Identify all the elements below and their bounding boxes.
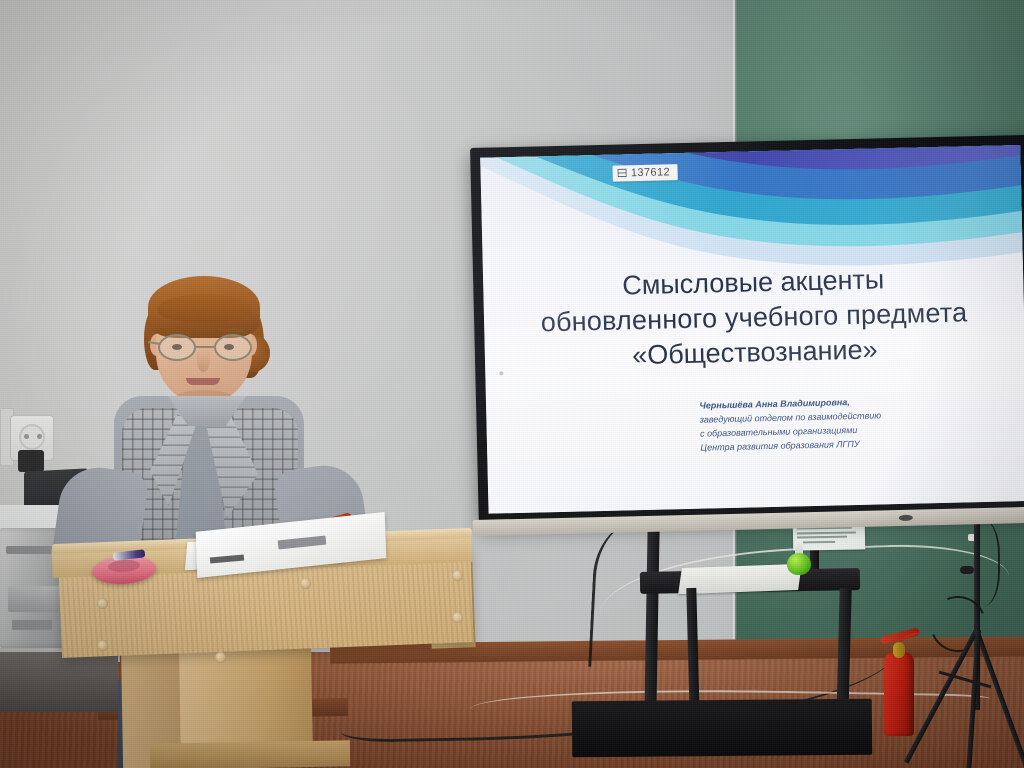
podium-dowel xyxy=(97,640,108,651)
display-screen[interactable]: 137612 Смысловые акценты обновленного уч… xyxy=(480,145,1024,514)
display-stand-base xyxy=(572,699,872,758)
fire-extinguisher xyxy=(884,626,914,736)
podium-dowel xyxy=(452,612,463,623)
hand-sanitizer-bottle xyxy=(787,545,811,575)
podium-dowel xyxy=(452,570,463,581)
glasses-bridge xyxy=(196,346,214,348)
printer-label xyxy=(12,620,52,630)
sanitizer-body xyxy=(787,553,811,575)
left-dark-box xyxy=(0,652,118,712)
glasses-lens-right xyxy=(214,334,252,361)
printer-tray xyxy=(8,586,62,612)
podium-base xyxy=(150,740,350,768)
sign-line xyxy=(797,531,856,534)
screen-dust-speck xyxy=(499,371,503,375)
hair-fringe xyxy=(158,294,252,322)
slide-author-block: Чернышёва Анна Владимировна, заведующий … xyxy=(699,391,1003,455)
sign-line xyxy=(797,536,847,539)
tripod-cable-upper xyxy=(960,520,1000,606)
display-bezel: 137612 Смысловые акценты обновленного уч… xyxy=(470,135,1024,526)
inventory-label: 137612 xyxy=(613,164,678,182)
presentation-slide: 137612 Смысловые акценты обновленного уч… xyxy=(480,145,1024,514)
podium-dowel xyxy=(215,652,226,663)
slide-title: Смысловые акценты обновленного учебного … xyxy=(505,259,1004,376)
wall-display[interactable]: 137612 Смысловые акценты обновленного уч… xyxy=(470,135,1024,526)
podium-dowel xyxy=(97,598,108,609)
inventory-label-text: 137612 xyxy=(631,166,670,179)
socket-pin-left xyxy=(24,434,29,439)
mouth xyxy=(186,378,220,385)
extinguisher-body xyxy=(884,652,914,736)
glasses-lens-left xyxy=(158,334,196,361)
nose xyxy=(197,350,210,372)
inventory-tag-icon xyxy=(618,168,627,177)
tripod-knob xyxy=(960,566,974,574)
podium-dowel xyxy=(300,578,311,589)
paper-on-stand xyxy=(678,564,802,594)
presentation-room-photo: 137612 Смысловые акценты обновленного уч… xyxy=(0,0,1024,768)
